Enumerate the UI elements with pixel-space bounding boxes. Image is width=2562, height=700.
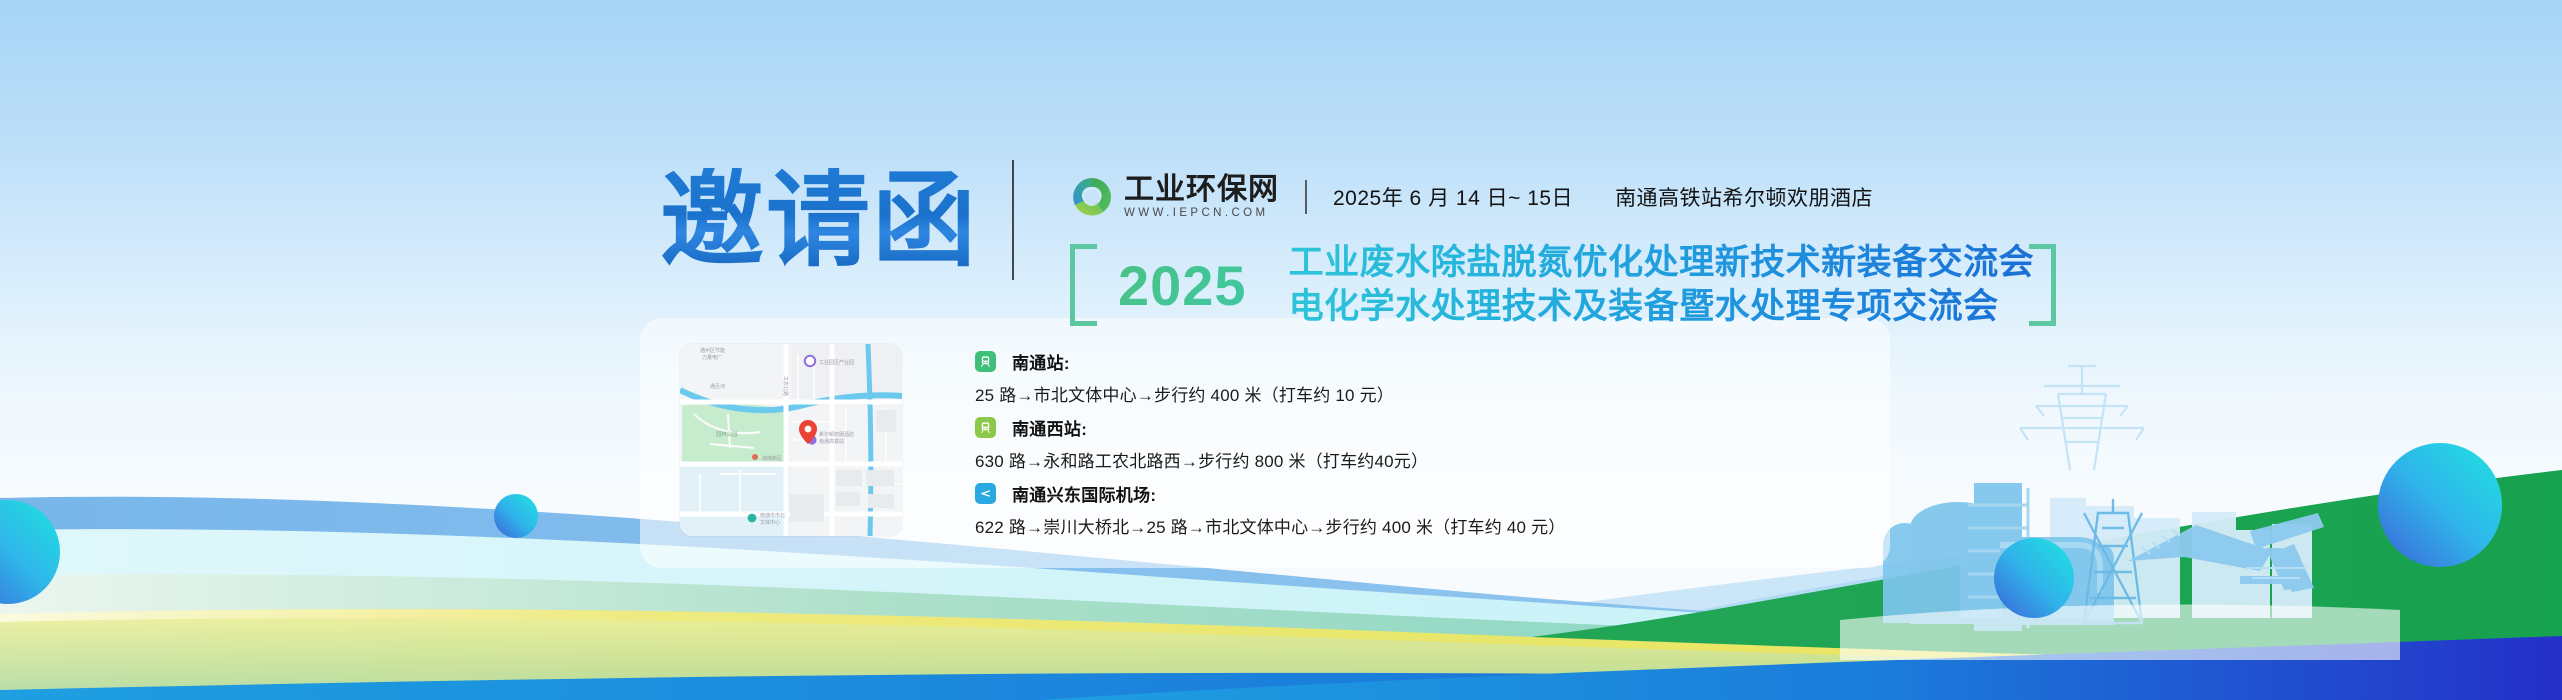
brand-name: 工业环保网 bbox=[1124, 175, 1279, 205]
brand-logo-icon bbox=[1070, 175, 1114, 219]
svg-text:城南新区: 城南新区 bbox=[762, 455, 782, 462]
brand-separator bbox=[1305, 180, 1307, 214]
svg-text:工农北路: 工农北路 bbox=[782, 376, 789, 396]
transit-directions-list: 南通站: 25 路→市北文体中心→步行约 400 米（打车约 10 元） 南通西… bbox=[975, 348, 1735, 546]
transit-station-name: 南通兴东国际机场: bbox=[1012, 481, 1156, 506]
invitation-banner: 邀请函 bbox=[0, 0, 2562, 700]
plane-icon bbox=[975, 483, 996, 504]
train-icon bbox=[975, 351, 996, 372]
svg-text:文体中心: 文体中心 bbox=[760, 519, 780, 526]
train-icon bbox=[975, 417, 996, 438]
brand-url: WWW.IEPCN.COM bbox=[1124, 207, 1279, 219]
brand-row: 工业环保网 WWW.IEPCN.COM 2025年 6 月 14 日~ 15日 … bbox=[1070, 168, 1900, 226]
transit-route: 630 路→永和路工农北路西→步行约 800 米（打车约40元） bbox=[975, 447, 1735, 472]
conference-title-block: 2025 工业废水除盐脱氮优化处理新技术新装备交流会 电化学水处理技术及装备暨水… bbox=[1070, 240, 1900, 330]
svg-text:工业园区产业园: 工业园区产业园 bbox=[819, 359, 854, 366]
svg-text:通吕河: 通吕河 bbox=[710, 383, 725, 390]
page-title: 邀请函 bbox=[660, 168, 1012, 272]
bracket-right-icon bbox=[2034, 240, 2056, 330]
transit-header: 南通兴东国际机场: bbox=[975, 480, 1735, 506]
svg-text:力量电厂: 力量电厂 bbox=[702, 354, 722, 361]
conference-line-1: 工业废水除盐脱氮优化处理新技术新装备交流会 bbox=[1289, 241, 2035, 285]
svg-text:希尔顿欢朋酒店: 希尔顿欢朋酒店 bbox=[819, 431, 854, 438]
decorative-circle-mid bbox=[1994, 538, 2074, 618]
decorative-circle-right-large bbox=[2378, 443, 2502, 567]
transit-route: 622 路→崇川大桥北→25 路→市北文体中心→步行约 400 米（打车约 40… bbox=[975, 513, 1735, 538]
title-divider bbox=[1012, 160, 1014, 280]
venue-location-map[interactable]: 工业园区产业园 希尔顿欢朋酒店 南通高铁站 城南新区 园林公园 通州区节能 力量… bbox=[680, 344, 902, 536]
event-date: 2025年 6 月 14 日~ 15日 bbox=[1333, 182, 1573, 212]
svg-text:园林公园: 园林公园 bbox=[716, 430, 738, 438]
transit-route: 25 路→市北文体中心→步行约 400 米（打车约 10 元） bbox=[975, 381, 1735, 406]
list-item: 南通兴东国际机场: 622 路→崇川大桥北→25 路→市北文体中心→步行约 40… bbox=[975, 480, 1735, 538]
decorative-circle-left-large bbox=[0, 500, 60, 604]
decorative-circle-left bbox=[494, 494, 538, 538]
list-item: 南通站: 25 路→市北文体中心→步行约 400 米（打车约 10 元） bbox=[975, 348, 1735, 406]
event-info-block: 工业环保网 WWW.IEPCN.COM 2025年 6 月 14 日~ 15日 … bbox=[1070, 168, 1900, 330]
conference-line-2: 电化学水处理技术及装备暨水处理专项交流会 bbox=[1289, 285, 2035, 329]
bracket-left-icon bbox=[1070, 240, 1092, 330]
conference-year: 2025 bbox=[1092, 240, 1269, 330]
conference-lines: 工业废水除盐脱氮优化处理新技术新装备交流会 电化学水处理技术及装备暨水处理专项交… bbox=[1269, 240, 2035, 330]
transit-station-name: 南通西站: bbox=[1012, 415, 1087, 440]
svg-text:南通高铁站: 南通高铁站 bbox=[819, 438, 844, 445]
event-venue: 南通高铁站希尔顿欢朋酒店 bbox=[1615, 182, 1873, 212]
svg-text:南通市市北: 南通市市北 bbox=[760, 512, 785, 519]
list-item: 南通西站: 630 路→永和路工农北路西→步行约 800 米（打车约40元） bbox=[975, 414, 1735, 472]
transit-header: 南通西站: bbox=[975, 414, 1735, 440]
transit-header: 南通站: bbox=[975, 348, 1735, 374]
transit-station-name: 南通站: bbox=[1012, 349, 1070, 374]
svg-text:通州区节能: 通州区节能 bbox=[700, 347, 725, 354]
brand-text: 工业环保网 WWW.IEPCN.COM bbox=[1124, 175, 1279, 219]
title-row: 邀请函 bbox=[660, 160, 1014, 280]
